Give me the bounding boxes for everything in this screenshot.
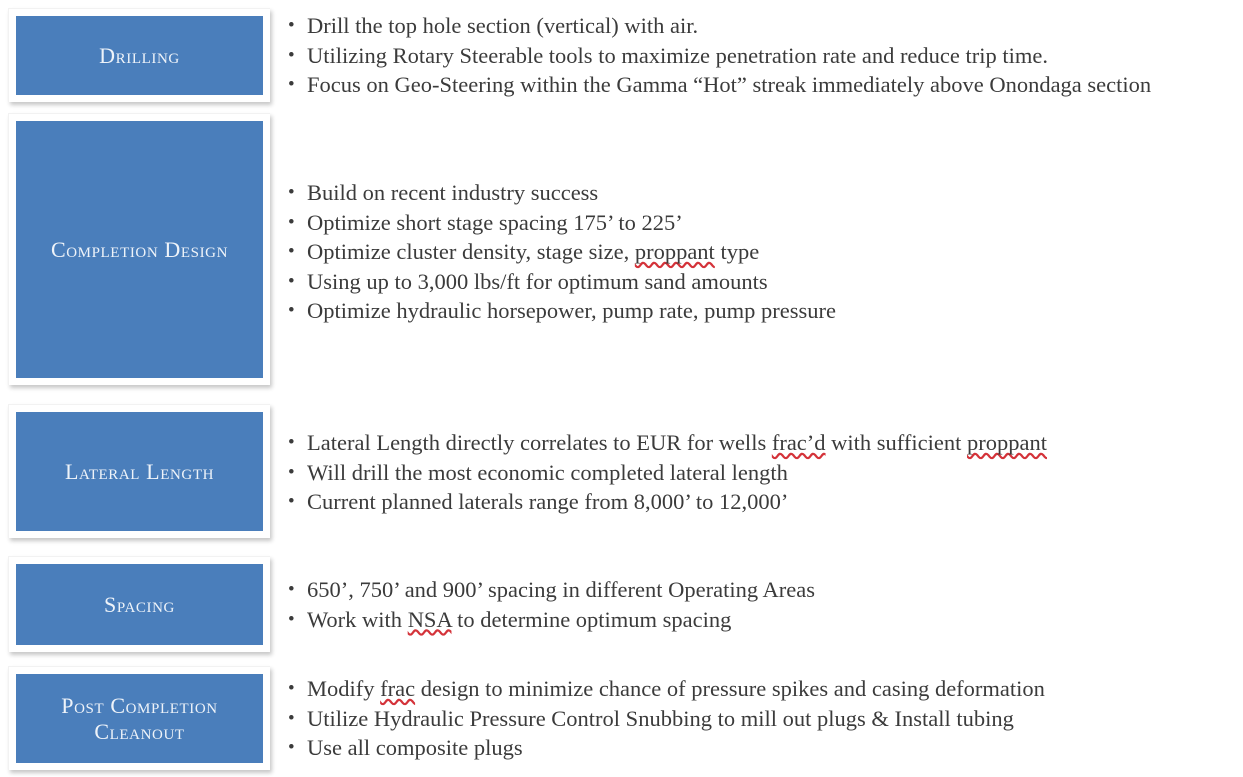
bullet-item: Optimize short stage spacing 175’ to 225… xyxy=(288,208,1243,238)
callout-box-post-completion-cleanout[interactable]: Post Completion Cleanout xyxy=(8,666,270,770)
bullet-item: Build on recent industry success xyxy=(288,178,1243,208)
bullet-list-lateral-length: Lateral Length directly correlates to EU… xyxy=(288,428,1243,517)
bullet-item: 650’, 750’ and 900’ spacing in different… xyxy=(288,575,1243,605)
bullet-item: Work with NSA to determine optimum spaci… xyxy=(288,605,1243,635)
spellcheck-word: NSA xyxy=(408,607,452,632)
callout-box-completion-design[interactable]: Completion Design xyxy=(8,113,270,385)
callout-box-spacing[interactable]: Spacing xyxy=(8,556,270,652)
callout-box-lateral-length[interactable]: Lateral Length xyxy=(8,404,270,538)
bullet-item: Lateral Length directly correlates to EU… xyxy=(288,428,1243,458)
bullet-list-drilling: Drill the top hole section (vertical) wi… xyxy=(288,11,1243,100)
bullet-list-completion-design: Build on recent industry success Optimiz… xyxy=(288,178,1243,326)
bullet-item: Will drill the most economic completed l… xyxy=(288,458,1243,488)
callout-fill: Lateral Length xyxy=(16,412,263,531)
bullet-item: Optimize hydraulic horsepower, pump rate… xyxy=(288,296,1243,326)
callout-label-lateral-length: Lateral Length xyxy=(59,459,220,485)
bullet-item: Current planned laterals range from 8,00… xyxy=(288,487,1243,517)
bullet-item: Utilizing Rotary Steerable tools to maxi… xyxy=(288,41,1243,71)
callout-fill: Completion Design xyxy=(16,121,263,378)
spellcheck-word: proppant xyxy=(967,430,1047,455)
callout-label-completion-design: Completion Design xyxy=(45,237,234,263)
bullet-item: Optimize cluster density, stage size, pr… xyxy=(288,237,1243,267)
bullet-item: Drill the top hole section (vertical) wi… xyxy=(288,11,1243,41)
bullet-item: Use all composite plugs xyxy=(288,733,1243,763)
callout-fill: Spacing xyxy=(16,564,263,645)
callout-fill: Drilling xyxy=(16,16,263,95)
bullet-item: Using up to 3,000 lbs/ft for optimum san… xyxy=(288,267,1243,297)
callout-label-spacing: Spacing xyxy=(98,592,181,618)
spellcheck-word: proppant xyxy=(635,239,715,264)
bullet-item: Modify frac design to minimize chance of… xyxy=(288,674,1243,704)
bullet-item: Focus on Geo-Steering within the Gamma “… xyxy=(288,70,1243,100)
callout-label-drilling: Drilling xyxy=(93,43,186,69)
callout-box-drilling[interactable]: Drilling xyxy=(8,8,270,102)
callout-fill: Post Completion Cleanout xyxy=(16,674,263,763)
spellcheck-word: frac’d xyxy=(772,430,826,455)
slide-canvas: Drilling Drill the top hole section (ver… xyxy=(0,0,1243,777)
callout-label-post-completion-cleanout: Post Completion Cleanout xyxy=(55,693,223,745)
bullet-list-post-completion-cleanout: Modify frac design to minimize chance of… xyxy=(288,674,1243,763)
bullet-list-spacing: 650’, 750’ and 900’ spacing in different… xyxy=(288,575,1243,634)
spellcheck-word: frac xyxy=(380,676,415,701)
bullet-item: Utilize Hydraulic Pressure Control Snubb… xyxy=(288,704,1243,734)
